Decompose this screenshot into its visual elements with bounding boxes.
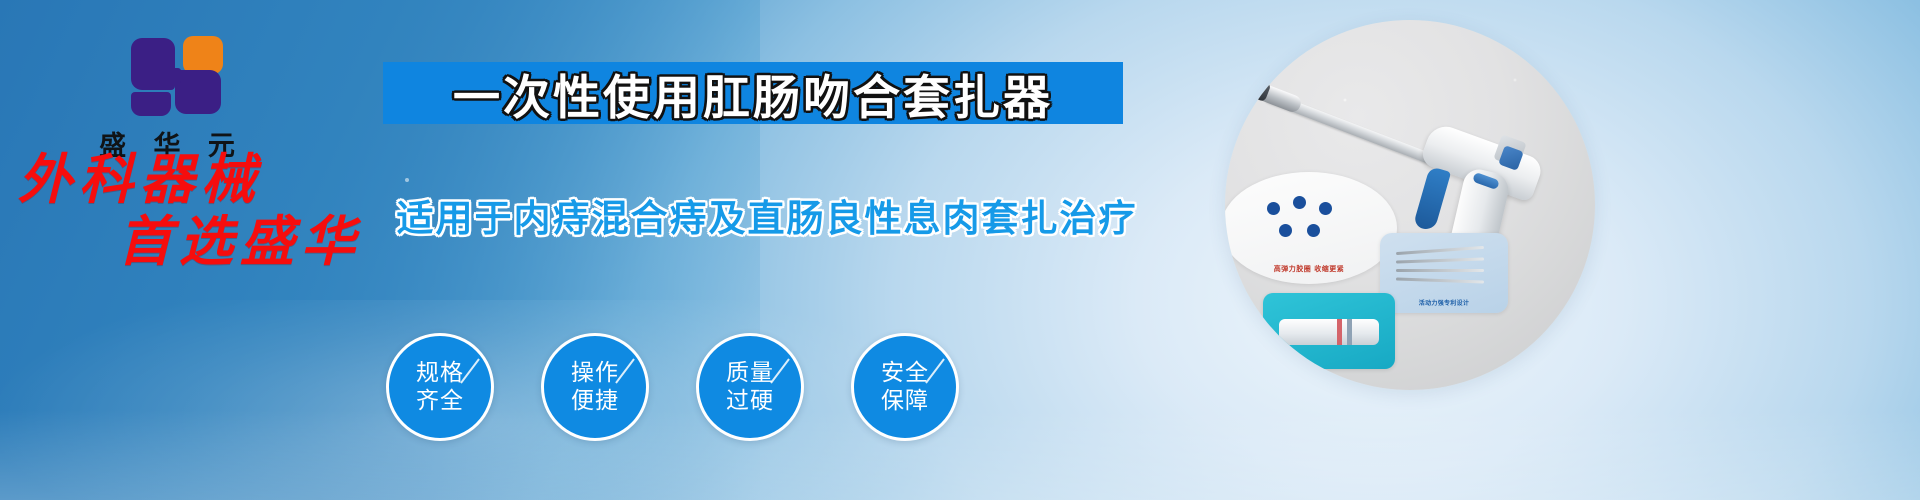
badge-line-2: 齐全 bbox=[416, 387, 464, 415]
badge-line-1: 操作 bbox=[571, 359, 619, 387]
inset-disposable-tube bbox=[1263, 293, 1395, 369]
brand-logo[interactable]: 盛 华 元 bbox=[72, 30, 262, 163]
feature-badge-spec[interactable]: 规格 齐全 bbox=[386, 333, 494, 441]
headline-title: 一次性使用肛肠吻合套扎器 bbox=[453, 59, 1053, 128]
inset-caption: 活动力强专利设计 bbox=[1380, 298, 1508, 307]
badge-line-1: 质量 bbox=[726, 359, 774, 387]
inset-caption: 高弹力胶圈 收缩更紧 bbox=[1225, 264, 1397, 274]
headline-bar: 一次性使用肛肠吻合套扎器 bbox=[383, 62, 1123, 124]
subtitle-text: 适用于内痔混合痔及直肠良性息肉套扎治疗 bbox=[372, 188, 1162, 242]
badge-line-2: 过硬 bbox=[726, 387, 774, 415]
inset-rubber-rings: 高弹力胶圈 收缩更紧 bbox=[1225, 172, 1397, 284]
logo-mark-icon bbox=[113, 30, 221, 118]
badge-line-1: 安全 bbox=[881, 359, 929, 387]
badge-line-1: 规格 bbox=[416, 359, 464, 387]
feature-badge-list: 规格 齐全 操作 便捷 质量 过硬 安全 保障 bbox=[386, 333, 959, 441]
product-photo: 高弹力胶圈 收缩更紧 活动力强专利设计 bbox=[1225, 20, 1595, 390]
background-bottom-glow bbox=[0, 300, 1920, 500]
badge-line-2: 便捷 bbox=[571, 387, 619, 415]
background-bottom-fade bbox=[0, 410, 1920, 500]
feature-badge-quality[interactable]: 质量 过硬 bbox=[696, 333, 804, 441]
feature-badge-operation[interactable]: 操作 便捷 bbox=[541, 333, 649, 441]
badge-line-2: 保障 bbox=[881, 387, 929, 415]
promo-banner: 盛 华 元 外科器械 首选盛华 一次性使用肛肠吻合套扎器 适用于内痔混合痔及直肠… bbox=[0, 0, 1920, 500]
feature-badge-safety[interactable]: 安全 保障 bbox=[851, 333, 959, 441]
inset-ligation-needles: 活动力强专利设计 bbox=[1380, 233, 1508, 313]
